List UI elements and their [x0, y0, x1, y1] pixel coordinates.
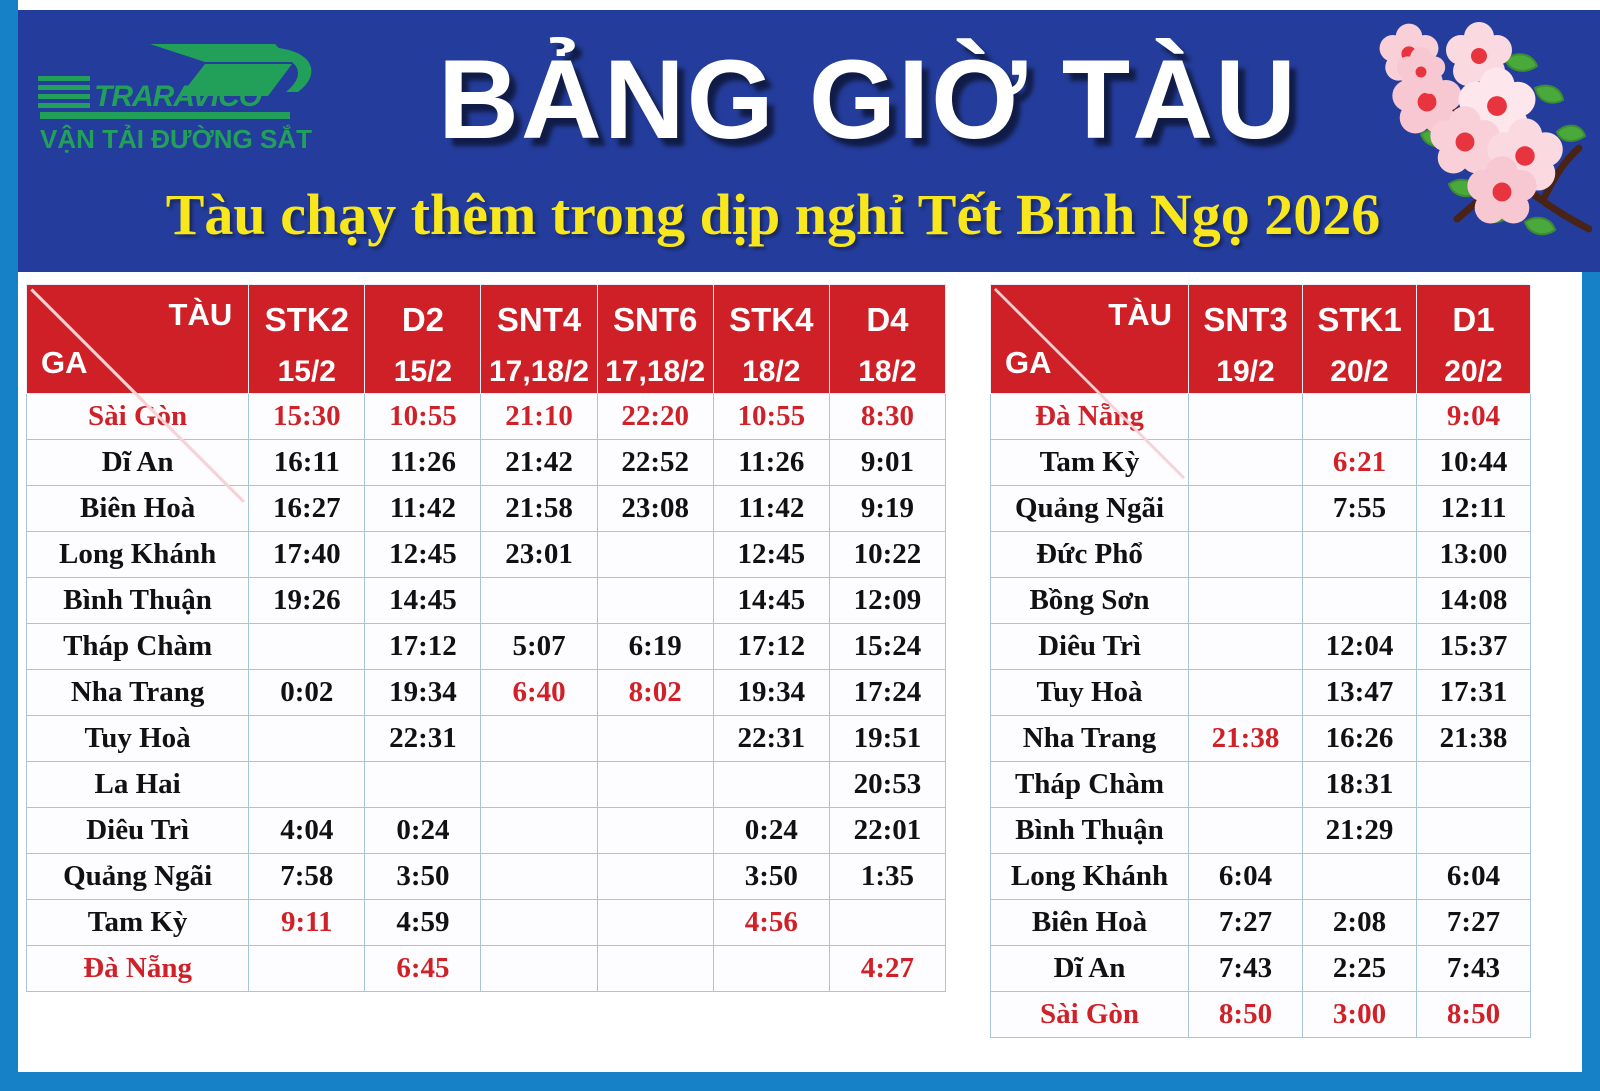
- time-cell: 23:08: [597, 486, 713, 532]
- train-code: D1: [1417, 291, 1530, 338]
- time-cell: 6:04: [1417, 854, 1531, 900]
- time-cell: 9:11: [249, 900, 365, 946]
- time-cell: 9:19: [829, 486, 945, 532]
- schedule-table-southbound: TÀUGASTK215/2D215/2SNT417,18/2SNT617,18/…: [26, 284, 946, 992]
- time-cell: [1417, 808, 1531, 854]
- time-cell: 0:02: [249, 670, 365, 716]
- time-cell: 3:50: [365, 854, 481, 900]
- time-cell: 19:26: [249, 578, 365, 624]
- time-cell: [597, 946, 713, 992]
- station-name-cell: Nha Trang: [27, 670, 249, 716]
- train-date: 20/2: [1417, 338, 1530, 388]
- station-name-cell: Nha Trang: [991, 716, 1189, 762]
- station-name-cell: Bồng Sơn: [991, 578, 1189, 624]
- time-cell: 21:38: [1417, 716, 1531, 762]
- train-column-header[interactable]: STK120/2: [1303, 285, 1417, 394]
- train-code: STK1: [1303, 291, 1416, 338]
- time-cell: 17:24: [829, 670, 945, 716]
- time-cell: [829, 900, 945, 946]
- time-cell: [1303, 394, 1417, 440]
- time-cell: 7:55: [1303, 486, 1417, 532]
- time-cell: [1303, 532, 1417, 578]
- train-date: 19/2: [1189, 338, 1302, 388]
- time-cell: [1189, 440, 1303, 486]
- time-cell: 13:47: [1303, 670, 1417, 716]
- time-cell: 21:38: [1189, 716, 1303, 762]
- time-cell: [249, 624, 365, 670]
- station-name-cell: Quảng Ngãi: [991, 486, 1189, 532]
- time-cell: 13:00: [1417, 532, 1531, 578]
- time-cell: [1189, 808, 1303, 854]
- time-cell: 5:07: [481, 624, 597, 670]
- time-cell: 21:42: [481, 440, 597, 486]
- time-cell: 10:55: [365, 394, 481, 440]
- train-column-header[interactable]: D215/2: [365, 285, 481, 394]
- train-code: SNT4: [481, 291, 596, 338]
- table-row: Đà Nẵng6:454:27: [27, 946, 946, 992]
- table-row: Tuy Hoà13:4717:31: [991, 670, 1531, 716]
- train-column-header[interactable]: STK418/2: [713, 285, 829, 394]
- time-cell: [713, 762, 829, 808]
- time-cell: 18:31: [1303, 762, 1417, 808]
- station-name-cell: Long Khánh: [27, 532, 249, 578]
- table-row: La Hai20:53: [27, 762, 946, 808]
- train-code: D4: [830, 291, 945, 338]
- time-cell: 6:45: [365, 946, 481, 992]
- station-name-cell: Tam Kỳ: [27, 900, 249, 946]
- time-cell: 17:12: [713, 624, 829, 670]
- train-code: STK4: [714, 291, 829, 338]
- time-cell: [481, 946, 597, 992]
- table-row: Sài Gòn8:503:008:50: [991, 992, 1531, 1038]
- time-cell: 12:11: [1417, 486, 1531, 532]
- time-cell: 12:09: [829, 578, 945, 624]
- time-cell: 8:30: [829, 394, 945, 440]
- time-cell: 11:42: [365, 486, 481, 532]
- time-cell: 21:10: [481, 394, 597, 440]
- time-cell: [1189, 624, 1303, 670]
- station-name-cell: Bình Thuận: [991, 808, 1189, 854]
- time-cell: 10:44: [1417, 440, 1531, 486]
- page-title: BẢNG GIỜ TÀU: [368, 44, 1368, 156]
- time-cell: [713, 946, 829, 992]
- train-date: 15/2: [365, 338, 480, 388]
- time-cell: 8:50: [1417, 992, 1531, 1038]
- station-name-cell: Diêu Trì: [27, 808, 249, 854]
- table-row: Quảng Ngãi7:5512:11: [991, 486, 1531, 532]
- time-cell: [1189, 486, 1303, 532]
- table-row: Bình Thuận19:2614:4514:4512:09: [27, 578, 946, 624]
- table-row: Long Khánh6:046:04: [991, 854, 1531, 900]
- table-row: Bình Thuận21:29: [991, 808, 1531, 854]
- train-code: STK2: [249, 291, 364, 338]
- time-cell: 9:01: [829, 440, 945, 486]
- traravico-logo: TRARAVICO VẬN TẢI ĐƯỜNG SẮT: [30, 40, 340, 160]
- station-name-cell: Đức Phổ: [991, 532, 1189, 578]
- train-date: 18/2: [830, 338, 945, 388]
- time-cell: 4:59: [365, 900, 481, 946]
- station-name-cell: La Hai: [27, 762, 249, 808]
- time-cell: [1303, 854, 1417, 900]
- page-subtitle: Tàu chạy thêm trong dịp nghỉ Tết Bính Ng…: [58, 186, 1488, 244]
- time-cell: 22:20: [597, 394, 713, 440]
- time-cell: [597, 762, 713, 808]
- time-cell: [597, 532, 713, 578]
- time-cell: [1417, 762, 1531, 808]
- schedule-content-area: TÀUGASTK215/2D215/2SNT417,18/2SNT617,18/…: [18, 272, 1582, 1072]
- train-column-header[interactable]: SNT319/2: [1189, 285, 1303, 394]
- train-code: SNT6: [598, 291, 713, 338]
- time-cell: [1189, 762, 1303, 808]
- time-cell: 12:04: [1303, 624, 1417, 670]
- traravico-logo-icon: TRARAVICO VẬN TẢI ĐƯỜNG SẮT: [30, 40, 340, 160]
- station-name-cell: Bình Thuận: [27, 578, 249, 624]
- time-cell: 15:37: [1417, 624, 1531, 670]
- time-cell: 11:26: [365, 440, 481, 486]
- time-cell: 14:45: [365, 578, 481, 624]
- peach-blossom-icon: [1357, 14, 1592, 264]
- time-cell: 6:04: [1189, 854, 1303, 900]
- time-cell: [1189, 578, 1303, 624]
- time-cell: [481, 716, 597, 762]
- time-cell: 9:04: [1417, 394, 1531, 440]
- header-band: TRARAVICO VẬN TẢI ĐƯỜNG SẮT BẢNG GIỜ TÀU…: [18, 10, 1600, 272]
- table-row: Nha Trang21:3816:2621:38: [991, 716, 1531, 762]
- table-row: Nha Trang0:0219:346:408:0219:3417:24: [27, 670, 946, 716]
- time-cell: 22:01: [829, 808, 945, 854]
- table-row: Quảng Ngãi7:583:503:501:35: [27, 854, 946, 900]
- table-row: Tháp Chàm18:31: [991, 762, 1531, 808]
- time-cell: [481, 762, 597, 808]
- table-row: Tuy Hoà22:3122:3119:51: [27, 716, 946, 762]
- logo-brand-text: TRARAVICO: [94, 80, 262, 113]
- time-cell: 21:29: [1303, 808, 1417, 854]
- station-name-cell: Quảng Ngãi: [27, 854, 249, 900]
- time-cell: 6:21: [1303, 440, 1417, 486]
- time-cell: 14:45: [713, 578, 829, 624]
- time-cell: 22:31: [713, 716, 829, 762]
- time-cell: [597, 900, 713, 946]
- station-name-cell: Long Khánh: [991, 854, 1189, 900]
- time-cell: 8:50: [1189, 992, 1303, 1038]
- poster-root: TRARAVICO VẬN TẢI ĐƯỜNG SẮT BẢNG GIỜ TÀU…: [0, 0, 1600, 1091]
- schedule-table-northbound: TÀUGASNT319/2STK120/2D120/2 Đà Nẵng9:04T…: [990, 284, 1530, 1038]
- time-cell: 7:58: [249, 854, 365, 900]
- time-cell: 7:43: [1417, 946, 1531, 992]
- table-row: Biên Hoà7:272:087:27: [991, 900, 1531, 946]
- time-cell: 2:08: [1303, 900, 1417, 946]
- train-date: 18/2: [714, 338, 829, 388]
- time-cell: 22:52: [597, 440, 713, 486]
- station-name-cell: Tuy Hoà: [991, 670, 1189, 716]
- table-row: Bồng Sơn14:08: [991, 578, 1531, 624]
- time-cell: 20:53: [829, 762, 945, 808]
- time-cell: 0:24: [713, 808, 829, 854]
- table-corner-header: TÀUGA: [991, 285, 1189, 394]
- time-cell: 14:08: [1417, 578, 1531, 624]
- table-row: Đức Phổ13:00: [991, 532, 1531, 578]
- station-name-cell: Diêu Trì: [991, 624, 1189, 670]
- time-cell: [249, 946, 365, 992]
- time-cell: 4:27: [829, 946, 945, 992]
- time-cell: 17:31: [1417, 670, 1531, 716]
- logo-tagline-text: VẬN TẢI ĐƯỜNG SẮT: [40, 124, 312, 154]
- time-cell: 2:25: [1303, 946, 1417, 992]
- time-cell: 4:56: [713, 900, 829, 946]
- time-cell: 11:42: [713, 486, 829, 532]
- time-cell: [481, 900, 597, 946]
- train-date: 17,18/2: [481, 338, 596, 388]
- time-cell: 7:43: [1189, 946, 1303, 992]
- time-cell: 23:01: [481, 532, 597, 578]
- table-row: Long Khánh17:4012:4523:0112:4510:22: [27, 532, 946, 578]
- corner-train-label: TÀU: [169, 297, 233, 333]
- time-cell: 6:19: [597, 624, 713, 670]
- time-cell: [1189, 532, 1303, 578]
- time-cell: [249, 716, 365, 762]
- table-row: Diêu Trì12:0415:37: [991, 624, 1531, 670]
- time-cell: 15:24: [829, 624, 945, 670]
- station-name-cell: Dĩ An: [991, 946, 1189, 992]
- time-cell: 4:04: [249, 808, 365, 854]
- train-column-header[interactable]: D418/2: [829, 285, 945, 394]
- time-cell: 19:34: [713, 670, 829, 716]
- train-date: 20/2: [1303, 338, 1416, 388]
- corner-train-label: TÀU: [1108, 297, 1172, 333]
- time-cell: [597, 854, 713, 900]
- time-cell: 3:50: [713, 854, 829, 900]
- station-name-cell: Tuy Hoà: [27, 716, 249, 762]
- table-corner-header: TÀUGA: [27, 285, 249, 394]
- time-cell: 19:51: [829, 716, 945, 762]
- time-cell: 1:35: [829, 854, 945, 900]
- station-name-cell: Tháp Chàm: [27, 624, 249, 670]
- time-cell: 12:45: [713, 532, 829, 578]
- time-cell: 12:45: [365, 532, 481, 578]
- time-cell: [1189, 394, 1303, 440]
- time-cell: 8:02: [597, 670, 713, 716]
- train-code: D2: [365, 291, 480, 338]
- time-cell: 16:11: [249, 440, 365, 486]
- train-code: SNT3: [1189, 291, 1302, 338]
- table-row: Tam Kỳ9:114:594:56: [27, 900, 946, 946]
- time-cell: 10:55: [713, 394, 829, 440]
- time-cell: 0:24: [365, 808, 481, 854]
- train-date: 17,18/2: [598, 338, 713, 388]
- time-cell: [1303, 578, 1417, 624]
- time-cell: 16:27: [249, 486, 365, 532]
- table-row: Tháp Chàm17:125:076:1917:1215:24: [27, 624, 946, 670]
- time-cell: 17:40: [249, 532, 365, 578]
- train-date: 15/2: [249, 338, 364, 388]
- time-cell: 15:30: [249, 394, 365, 440]
- train-column-header[interactable]: STK215/2: [249, 285, 365, 394]
- time-cell: [365, 762, 481, 808]
- time-cell: 19:34: [365, 670, 481, 716]
- table-row: Dĩ An7:432:257:43: [991, 946, 1531, 992]
- time-cell: 3:00: [1303, 992, 1417, 1038]
- time-cell: 7:27: [1189, 900, 1303, 946]
- corner-station-label: GA: [41, 345, 88, 381]
- time-cell: 6:40: [481, 670, 597, 716]
- time-cell: 11:26: [713, 440, 829, 486]
- time-cell: [597, 578, 713, 624]
- train-column-header[interactable]: SNT417,18/2: [481, 285, 597, 394]
- time-cell: [597, 808, 713, 854]
- time-cell: 16:26: [1303, 716, 1417, 762]
- time-cell: [1189, 670, 1303, 716]
- station-name-cell: Đà Nẵng: [27, 946, 249, 992]
- time-cell: 22:31: [365, 716, 481, 762]
- station-name-cell: Tháp Chàm: [991, 762, 1189, 808]
- station-name-cell: Biên Hoà: [991, 900, 1189, 946]
- time-cell: [481, 578, 597, 624]
- corner-station-label: GA: [1005, 345, 1052, 381]
- time-cell: [597, 716, 713, 762]
- station-name-cell: Sài Gòn: [991, 992, 1189, 1038]
- time-cell: 17:12: [365, 624, 481, 670]
- time-cell: [249, 762, 365, 808]
- time-cell: 7:27: [1417, 900, 1531, 946]
- time-cell: [481, 808, 597, 854]
- time-cell: 21:58: [481, 486, 597, 532]
- table-row: Diêu Trì4:040:240:2422:01: [27, 808, 946, 854]
- train-column-header[interactable]: D120/2: [1417, 285, 1531, 394]
- time-cell: [481, 854, 597, 900]
- train-column-header[interactable]: SNT617,18/2: [597, 285, 713, 394]
- time-cell: 10:22: [829, 532, 945, 578]
